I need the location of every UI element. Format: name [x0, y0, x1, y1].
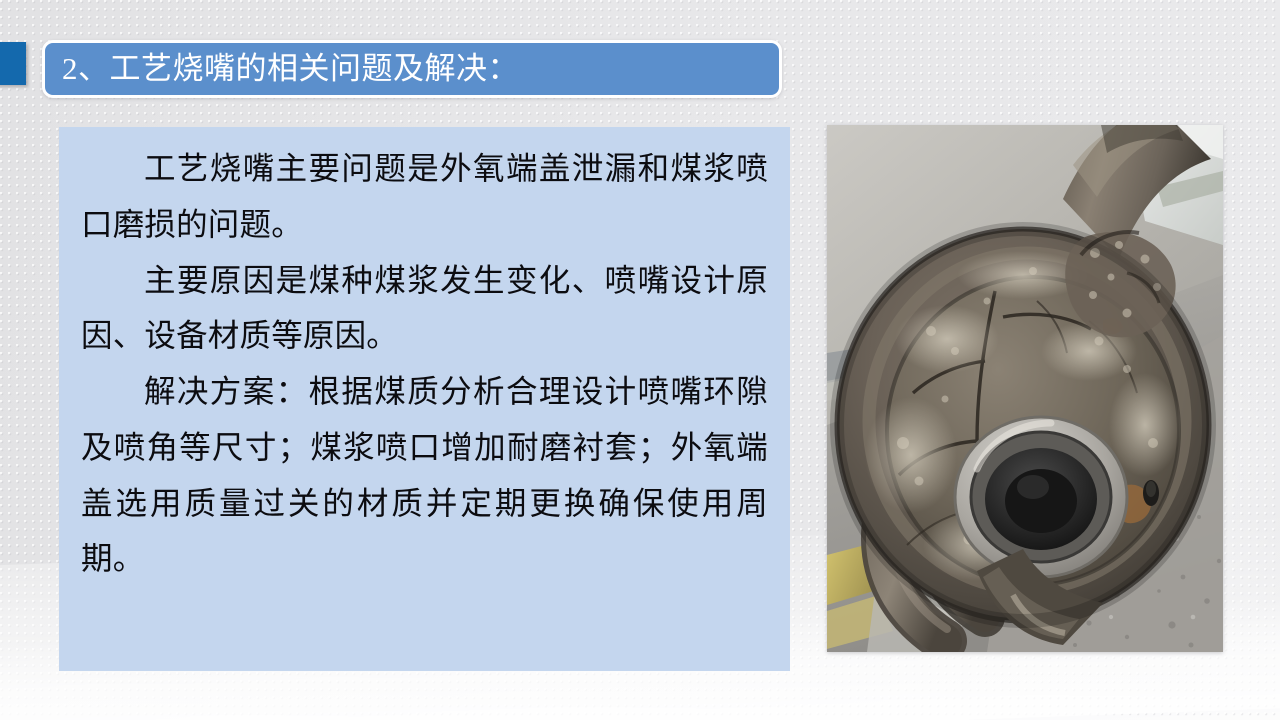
burner-nozzle-illustration: [827, 125, 1223, 652]
slide-canvas: 2、工艺烧嘴的相关问题及解决： 工艺烧嘴主要问题是外氧端盖泄漏和煤浆喷口磨损的问…: [0, 0, 1280, 720]
page-title: 2、工艺烧嘴的相关问题及解决：: [45, 52, 519, 86]
body-paragraph-1: 工艺烧嘴主要问题是外氧端盖泄漏和煤浆喷口磨损的问题。: [81, 141, 768, 253]
decorative-square: [0, 42, 26, 85]
body-paragraph-3: 解决方案：根据煤质分析合理设计喷嘴环隙及喷角等尺寸；煤浆喷口增加耐磨衬套；外氧端…: [81, 364, 768, 587]
burner-nozzle-photo: [827, 125, 1223, 652]
slide-title-bar: 2、工艺烧嘴的相关问题及解决：: [42, 40, 782, 98]
body-text-box: 工艺烧嘴主要问题是外氧端盖泄漏和煤浆喷口磨损的问题。 主要原因是煤种煤浆发生变化…: [59, 127, 790, 671]
body-paragraph-2: 主要原因是煤种煤浆发生变化、喷嘴设计原因、设备材质等原因。: [81, 253, 768, 365]
